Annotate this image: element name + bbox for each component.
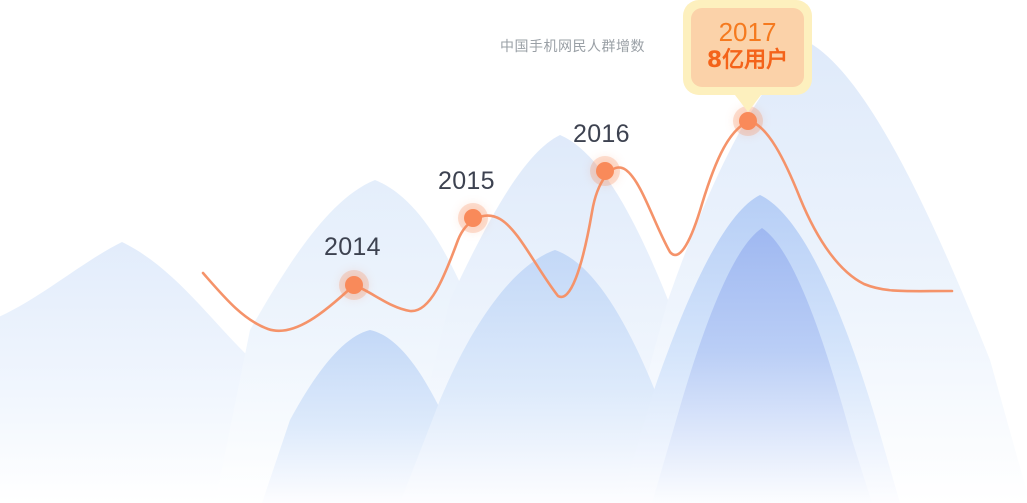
- year-label-2014: 2014: [324, 233, 381, 262]
- mountain-background: [0, 0, 1027, 503]
- year-label-2016: 2016: [573, 120, 630, 149]
- chart-subtitle: 中国手机网民人群增数: [500, 36, 645, 56]
- tooltip-inner-panel: 2017 8亿用户: [691, 8, 804, 87]
- tooltip-tail-icon: [735, 95, 761, 112]
- data-point-marker-2016[interactable]: [596, 162, 614, 180]
- chart-canvas: 中国手机网民人群增数 2014 2015 2016 2017 8亿用户: [0, 0, 1027, 503]
- data-point-marker-2015[interactable]: [464, 209, 482, 227]
- tooltip-outer-frame: 2017 8亿用户: [683, 0, 812, 95]
- data-point-marker-2014[interactable]: [345, 276, 363, 294]
- tooltip-2017[interactable]: 2017 8亿用户: [683, 0, 812, 95]
- tooltip-year: 2017: [697, 18, 798, 47]
- year-label-2015: 2015: [438, 167, 495, 196]
- tooltip-value: 8亿用户: [697, 48, 798, 74]
- data-point-marker-2017[interactable]: [739, 112, 757, 130]
